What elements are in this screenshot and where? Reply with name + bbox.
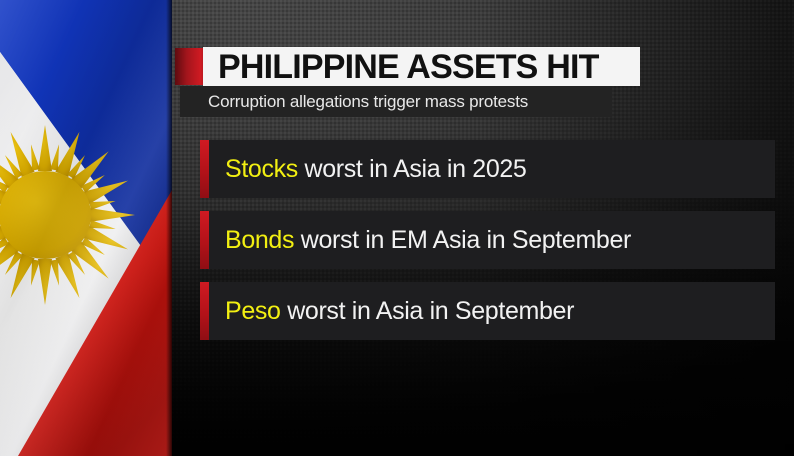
bullet-remainder: worst in EM Asia in September	[294, 226, 631, 254]
bullet-text: Peso worst in Asia in September	[225, 299, 574, 324]
bullet-remainder: worst in Asia in 2025	[298, 155, 527, 183]
subtitle-banner: Corruption allegations trigger mass prot…	[180, 86, 612, 117]
flag-right-edge-shadow	[166, 0, 172, 456]
bullet-row: Bonds worst in EM Asia in September	[200, 211, 775, 269]
page-subtitle: Corruption allegations trigger mass prot…	[208, 93, 528, 110]
flag-svg	[0, 0, 172, 456]
bullet-panel: Bonds worst in EM Asia in September	[209, 211, 775, 269]
page-title: PHILIPPINE ASSETS HIT	[218, 50, 599, 84]
bullet-red-accent	[200, 282, 209, 340]
philippines-flag-graphic	[0, 0, 172, 456]
headline-banner: PHILIPPINE ASSETS HIT	[203, 47, 640, 86]
bullet-keyword: Bonds	[225, 226, 294, 254]
sun-disc	[0, 171, 91, 259]
broadcast-graphic-stage: PHILIPPINE ASSETS HIT Corruption allegat…	[0, 0, 794, 456]
bullet-panel: Peso worst in Asia in September	[209, 282, 775, 340]
bullet-keyword: Stocks	[225, 155, 298, 183]
bullet-text: Stocks worst in Asia in 2025	[225, 157, 526, 182]
bullet-remainder: worst in Asia in September	[281, 297, 574, 325]
bullet-red-accent	[200, 211, 209, 269]
bullet-row: Stocks worst in Asia in 2025	[200, 140, 775, 198]
bullet-keyword: Peso	[225, 297, 281, 325]
bullet-red-accent	[200, 140, 209, 198]
bullet-row: Peso worst in Asia in September	[200, 282, 775, 340]
bullet-text: Bonds worst in EM Asia in September	[225, 228, 631, 253]
bullet-panel: Stocks worst in Asia in 2025	[209, 140, 775, 198]
